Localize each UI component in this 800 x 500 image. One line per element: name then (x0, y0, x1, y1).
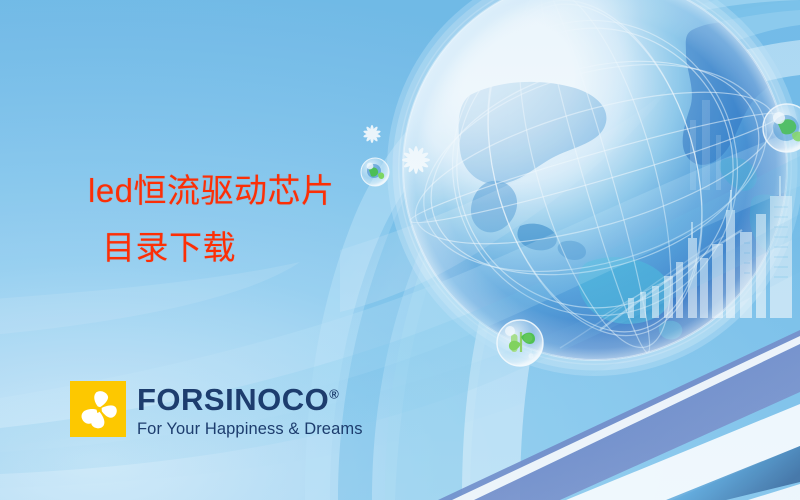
city-skyline-silhouette (628, 176, 792, 318)
company-logo[interactable]: FORSINOCO® For Your Happiness & Dreams (70, 381, 363, 438)
headline-line-1: led恒流驱动芯片 (88, 163, 508, 220)
logo-text-block: FORSINOCO® For Your Happiness & Dreams (137, 381, 363, 438)
bubble-globe-right (763, 104, 800, 152)
pinwheel-petals-icon (70, 381, 126, 437)
diagonal-bands (438, 330, 800, 500)
flower-small (363, 125, 381, 143)
headline-line-2: 目录下载 (88, 220, 508, 277)
bubble-sprout-center (497, 320, 543, 366)
globe-continents (459, 4, 800, 340)
logo-wordmark: FORSINOCO® (137, 384, 363, 415)
logo-mark-pinwheel (70, 381, 126, 437)
headline-block: led恒流驱动芯片 目录下载 (88, 163, 508, 277)
registered-trademark-icon: ® (329, 387, 339, 402)
logo-tagline: For Your Happiness & Dreams (137, 421, 363, 438)
light-streaks (560, 230, 742, 348)
led-catalog-banner: led恒流驱动芯片 目录下载 FORSINOCO® For Your Happi… (0, 0, 800, 500)
logo-wordmark-text: FORSINOCO (137, 382, 329, 417)
